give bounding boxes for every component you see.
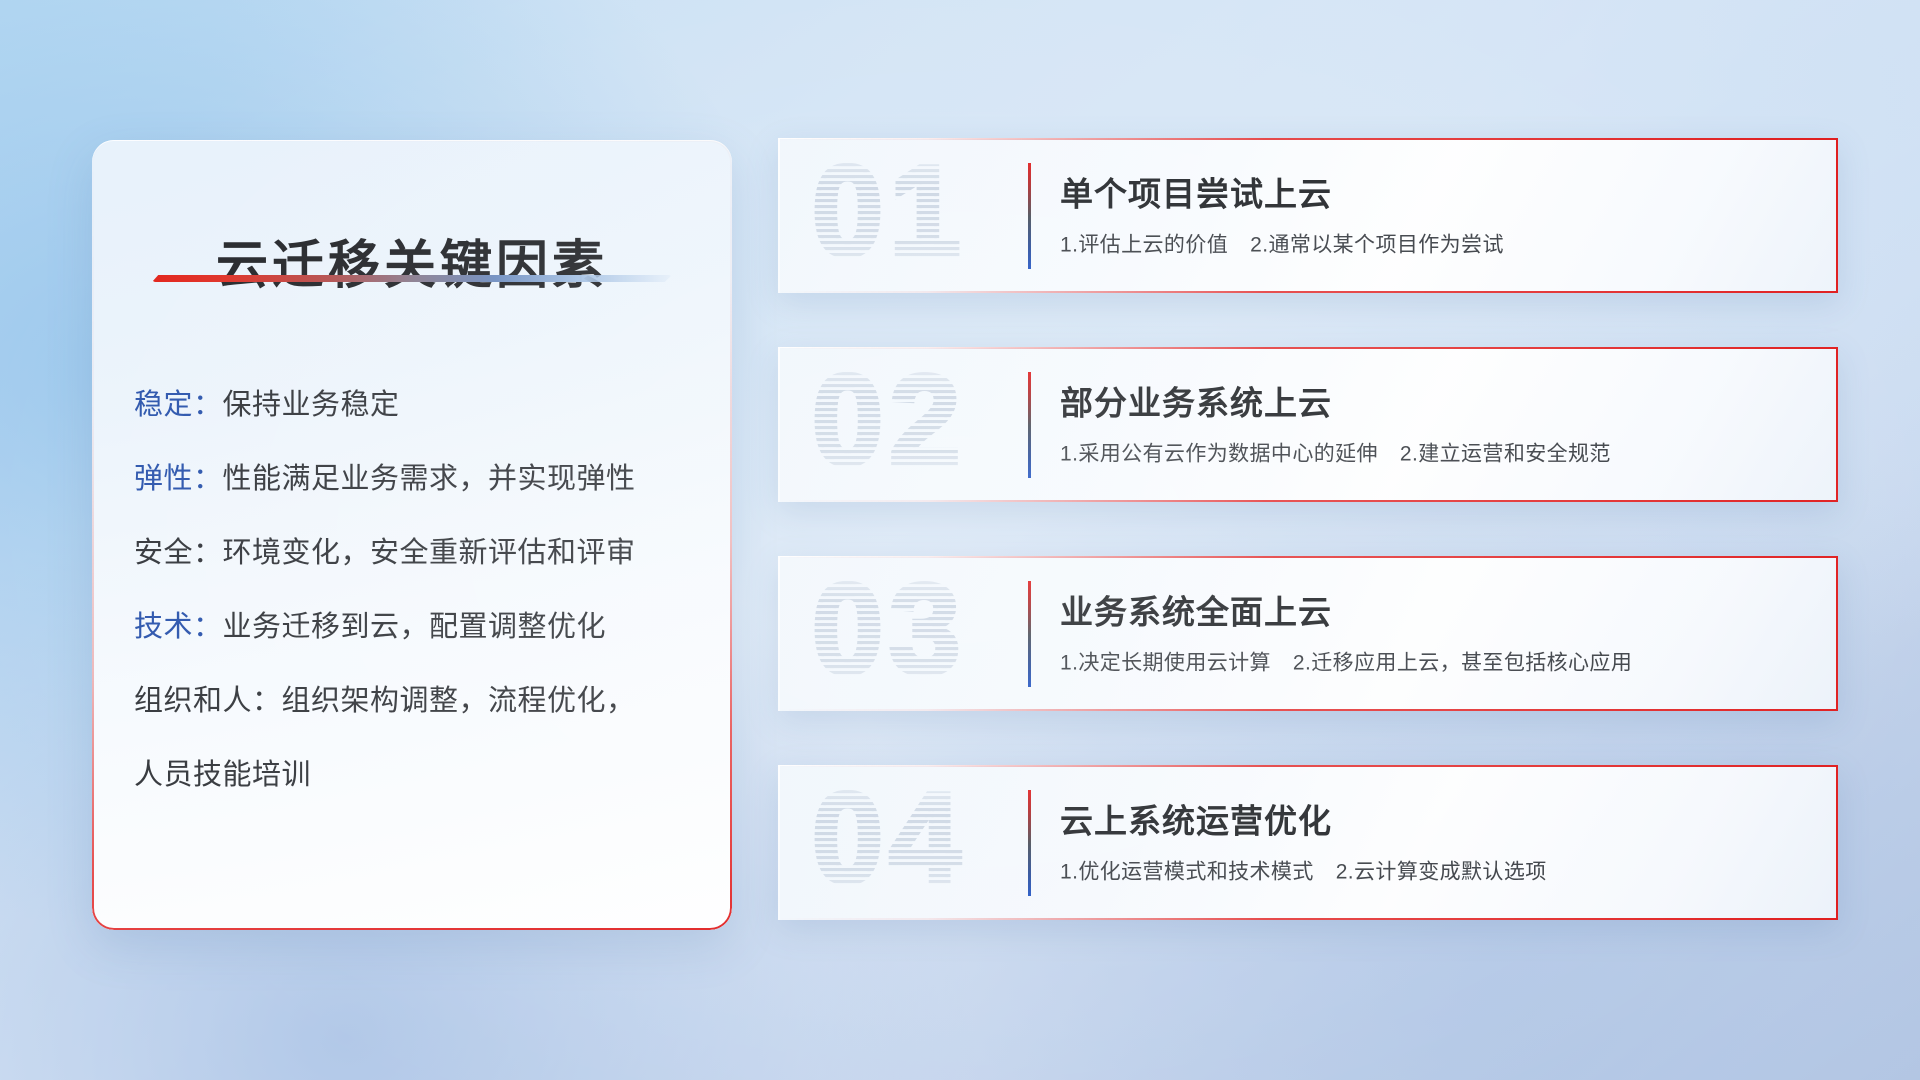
factor-label: 弹性： (134, 463, 223, 495)
stage-number-glyph: 03 (806, 569, 1046, 699)
stage-point-2: 2.建立运营和安全规范 (1400, 442, 1611, 465)
stage-number-glyph: 02 (806, 360, 1046, 490)
factor-list: 稳定：保持业务稳定 弹性：性能满足业务需求，并实现弹性 安全：环境变化，安全重新… (134, 368, 710, 812)
factor-text: 保持业务稳定 (223, 389, 400, 421)
page-title: 云迁移关键因素 (92, 223, 732, 298)
svg-text:03: 03 (812, 569, 966, 699)
factor-row: 稳定：保持业务稳定 (134, 368, 710, 442)
card-body: 云上系统运营优化 1.优化运营模式和技术模式2.云计算变成默认选项 (1060, 800, 1812, 885)
factor-label: 组织和人： (134, 685, 282, 717)
factor-text: 性能满足业务需求，并实现弹性 (223, 463, 636, 495)
stage-card[interactable]: 03 业务系统全面上云 1.决定长期使用云计算2.迁移应用上云，甚至包括核心应用 (778, 556, 1838, 711)
card-left-highlight (778, 347, 780, 502)
stage-point-1: 1.决定长期使用云计算 (1060, 651, 1271, 674)
stage-card[interactable]: 01 单个项目尝试上云 1.评估上云的价值2.通常以某个项目作为尝试 (778, 138, 1838, 293)
factor-row-continuation: 人员技能培训 (134, 738, 710, 812)
card-body: 部分业务系统上云 1.采用公有云作为数据中心的延伸2.建立运营和安全规范 (1060, 382, 1812, 467)
stage-point-2: 2.迁移应用上云，甚至包括核心应用 (1293, 651, 1632, 674)
card-left-highlight (778, 556, 780, 711)
stage-point-2: 2.云计算变成默认选项 (1336, 860, 1547, 883)
factor-text: 业务迁移到云，配置调整优化 (223, 611, 607, 643)
stage-description: 1.决定长期使用云计算2.迁移应用上云，甚至包括核心应用 (1060, 646, 1812, 676)
svg-text:04: 04 (812, 778, 966, 908)
card-left-highlight (778, 765, 780, 920)
factor-label: 安全： (134, 537, 223, 569)
stage-point-2: 2.通常以某个项目作为尝试 (1250, 233, 1504, 256)
factor-text: 人员技能培训 (134, 759, 311, 791)
stage-card[interactable]: 04 云上系统运营优化 1.优化运营模式和技术模式2.云计算变成默认选项 (778, 765, 1838, 920)
factor-text: 组织架构调整，流程优化， (282, 685, 636, 717)
stage-title: 单个项目尝试上云 (1060, 173, 1812, 215)
factor-row: 弹性：性能满足业务需求，并实现弹性 (134, 442, 710, 516)
stage-number-glyph: 04 (806, 778, 1046, 908)
card-divider-bar (1028, 372, 1031, 478)
card-body: 业务系统全面上云 1.决定长期使用云计算2.迁移应用上云，甚至包括核心应用 (1060, 591, 1812, 676)
factor-text: 环境变化，安全重新评估和评审 (223, 537, 636, 569)
title-underline-rule (152, 275, 672, 282)
svg-text:01: 01 (812, 151, 966, 281)
stage-number-glyph: 01 (806, 151, 1046, 281)
factor-label: 稳定： (134, 389, 223, 421)
svg-text:02: 02 (812, 360, 966, 490)
stage-description: 1.评估上云的价值2.通常以某个项目作为尝试 (1060, 228, 1812, 258)
stage-card-list: 01 单个项目尝试上云 1.评估上云的价值2.通常以某个项目作为尝试 (778, 138, 1838, 920)
card-body: 单个项目尝试上云 1.评估上云的价值2.通常以某个项目作为尝试 (1060, 173, 1812, 258)
factor-row: 技术：业务迁移到云，配置调整优化 (134, 590, 710, 664)
factor-label: 技术： (134, 611, 223, 643)
stage-card[interactable]: 02 部分业务系统上云 1.采用公有云作为数据中心的延伸2.建立运营和安全规范 (778, 347, 1838, 502)
stage-description: 1.采用公有云作为数据中心的延伸2.建立运营和安全规范 (1060, 437, 1812, 467)
factor-row: 安全：环境变化，安全重新评估和评审 (134, 516, 710, 590)
card-divider-bar (1028, 790, 1031, 896)
key-factors-panel: 云迁移关键因素 稳定：保持业务稳定 弹性：性能满足业务需求，并实现弹性 安全：环… (92, 140, 732, 930)
card-left-highlight (778, 138, 780, 293)
factor-row: 组织和人：组织架构调整，流程优化， (134, 664, 710, 738)
stage-title: 云上系统运营优化 (1060, 800, 1812, 842)
stage-point-1: 1.采用公有云作为数据中心的延伸 (1060, 442, 1378, 465)
stage-title: 业务系统全面上云 (1060, 591, 1812, 633)
stage-point-1: 1.评估上云的价值 (1060, 233, 1228, 256)
card-divider-bar (1028, 163, 1031, 269)
stage-title: 部分业务系统上云 (1060, 382, 1812, 424)
stage-point-1: 1.优化运营模式和技术模式 (1060, 860, 1314, 883)
slide-canvas: 云迁移关键因素 稳定：保持业务稳定 弹性：性能满足业务需求，并实现弹性 安全：环… (0, 0, 1920, 1080)
stage-description: 1.优化运营模式和技术模式2.云计算变成默认选项 (1060, 855, 1812, 885)
card-divider-bar (1028, 581, 1031, 687)
